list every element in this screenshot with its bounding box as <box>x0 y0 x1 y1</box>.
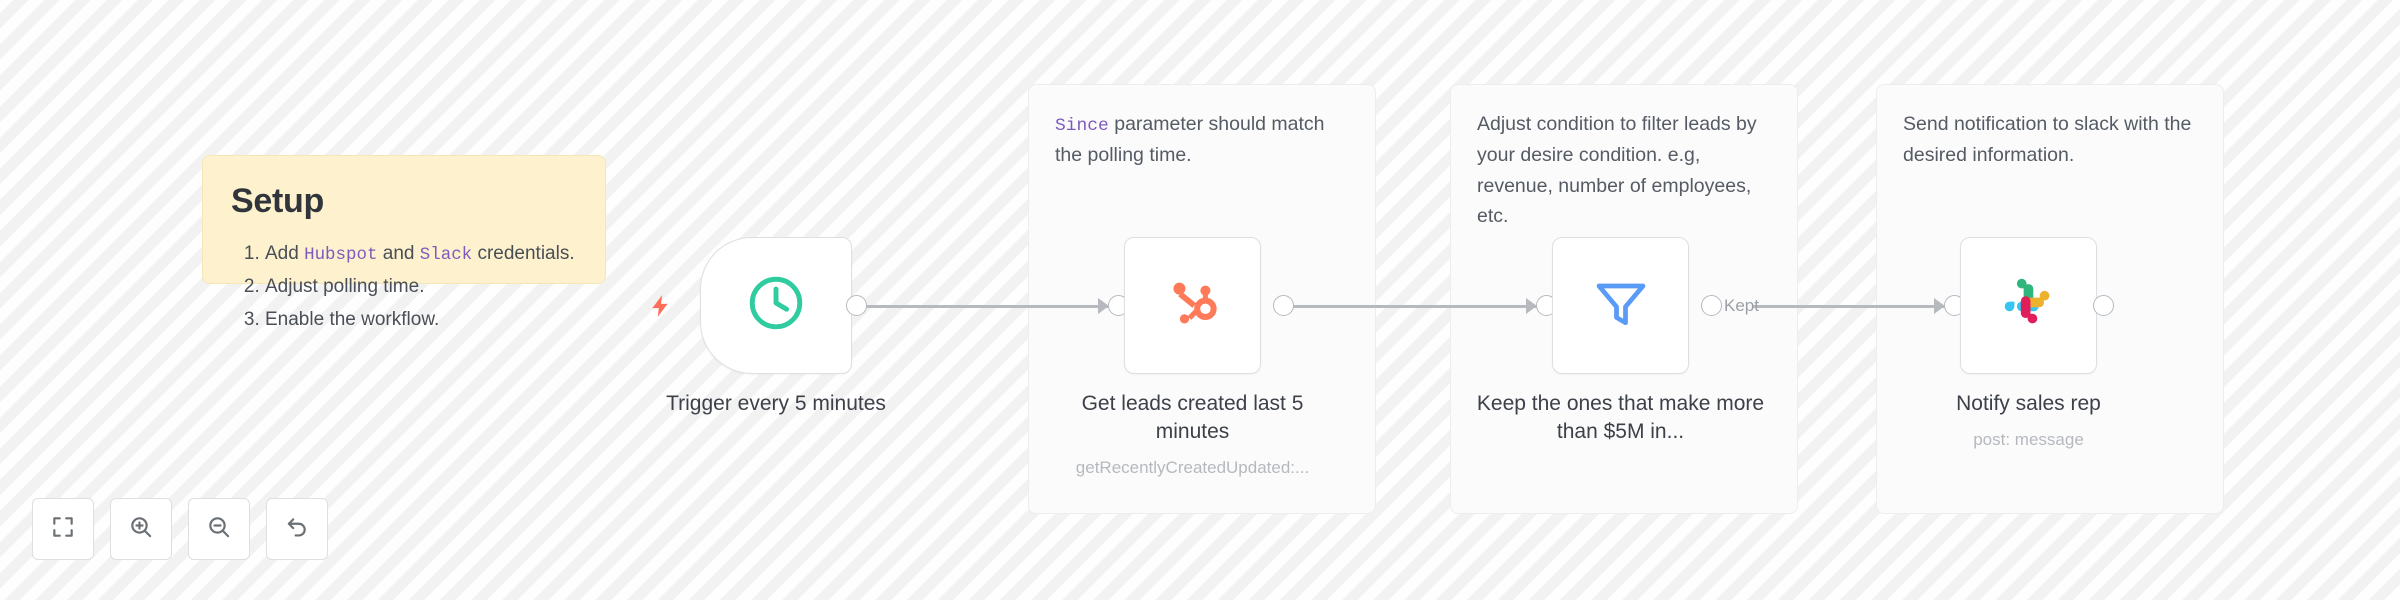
node-slack[interactable] <box>1960 237 2097 374</box>
sticky-note-title: Setup <box>231 182 577 221</box>
inline-code-since: Since <box>1055 116 1109 136</box>
funnel-icon <box>1591 273 1651 338</box>
setup-step-2: Adjust polling time. <box>265 272 577 303</box>
node-schedule-trigger[interactable] <box>700 237 852 374</box>
node-filter[interactable] <box>1552 237 1689 374</box>
undo-icon <box>284 514 310 545</box>
canvas-toolbar[interactable] <box>32 498 328 560</box>
slack-icon <box>2000 274 2058 337</box>
connection-wire <box>1290 305 1540 308</box>
zoom-to-fit-button[interactable] <box>32 498 94 560</box>
output-endpoint-hubspot[interactable] <box>1273 295 1294 316</box>
node-hubspot[interactable] <box>1124 237 1261 374</box>
sticky-note-setup[interactable]: Setup Add Hubspot and Slack credentials.… <box>202 155 606 284</box>
workflow-canvas[interactable]: Setup Add Hubspot and Slack credentials.… <box>0 0 2400 600</box>
zoom-in-icon <box>128 514 154 545</box>
setup-steps-list: Add Hubspot and Slack credentials. Adjus… <box>231 239 577 335</box>
clock-icon <box>745 272 807 339</box>
sticky-note-body: Send notification to slack with the desi… <box>1903 109 2197 171</box>
step-text: credentials. <box>472 243 574 264</box>
output-endpoint-filter-kept[interactable] <box>1701 295 1722 316</box>
node-caption-schedule-trigger: Trigger every 5 minutes <box>626 390 926 418</box>
sticky-note-body: Adjust condition to filter leads by your… <box>1477 109 1771 232</box>
inline-code-slack: Slack <box>420 245 472 265</box>
setup-step-3: Enable the workflow. <box>265 305 577 336</box>
step-text: and <box>377 243 419 264</box>
output-endpoint-trigger[interactable] <box>846 295 867 316</box>
connection-wire <box>1752 305 1948 308</box>
reset-zoom-button[interactable] <box>266 498 328 560</box>
connection-label-kept: Kept <box>1724 296 1759 316</box>
setup-step-1: Add Hubspot and Slack credentials. <box>265 239 577 270</box>
trigger-bolt-icon <box>648 290 674 328</box>
hubspot-icon <box>1162 272 1224 339</box>
node-title: Trigger every 5 minutes <box>626 390 926 418</box>
zoom-out-icon <box>206 514 232 545</box>
fit-screen-icon <box>50 514 76 545</box>
zoom-in-button[interactable] <box>110 498 172 560</box>
output-endpoint-slack[interactable] <box>2093 295 2114 316</box>
step-text: Add <box>265 243 304 264</box>
inline-code-hubspot: Hubspot <box>304 245 377 265</box>
sticky-note-body: Since parameter should match the polling… <box>1055 109 1349 171</box>
zoom-out-button[interactable] <box>188 498 250 560</box>
connection-wire <box>862 305 1112 308</box>
